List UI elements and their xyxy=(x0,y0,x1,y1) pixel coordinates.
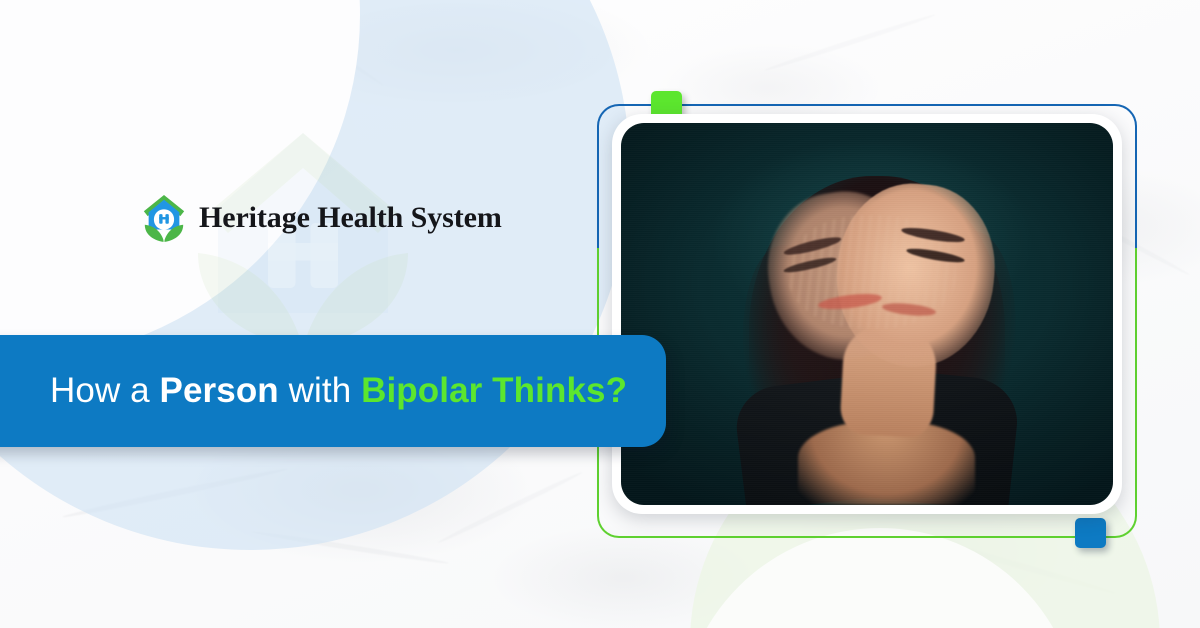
brand-lockup: Heritage Health System xyxy=(140,192,502,244)
blue-square-accent xyxy=(1075,518,1106,548)
photo-frame xyxy=(612,114,1122,514)
page-title: How a Person with Bipolar Thinks? xyxy=(50,371,627,411)
title-part-3: with xyxy=(279,371,361,410)
headline-banner: How a Person with Bipolar Thinks? xyxy=(0,335,666,447)
photo-grain xyxy=(621,123,1113,505)
title-part-4-accent: Bipolar Thinks? xyxy=(361,371,627,410)
title-part-1: How a xyxy=(50,371,160,410)
brand-name: Heritage Health System xyxy=(199,201,502,235)
banner-canvas: Heritage Health System H xyxy=(0,0,1200,628)
title-part-2-bold: Person xyxy=(160,371,279,410)
house-with-leaves-logo-icon xyxy=(140,192,188,244)
portrait-photo xyxy=(621,123,1113,505)
